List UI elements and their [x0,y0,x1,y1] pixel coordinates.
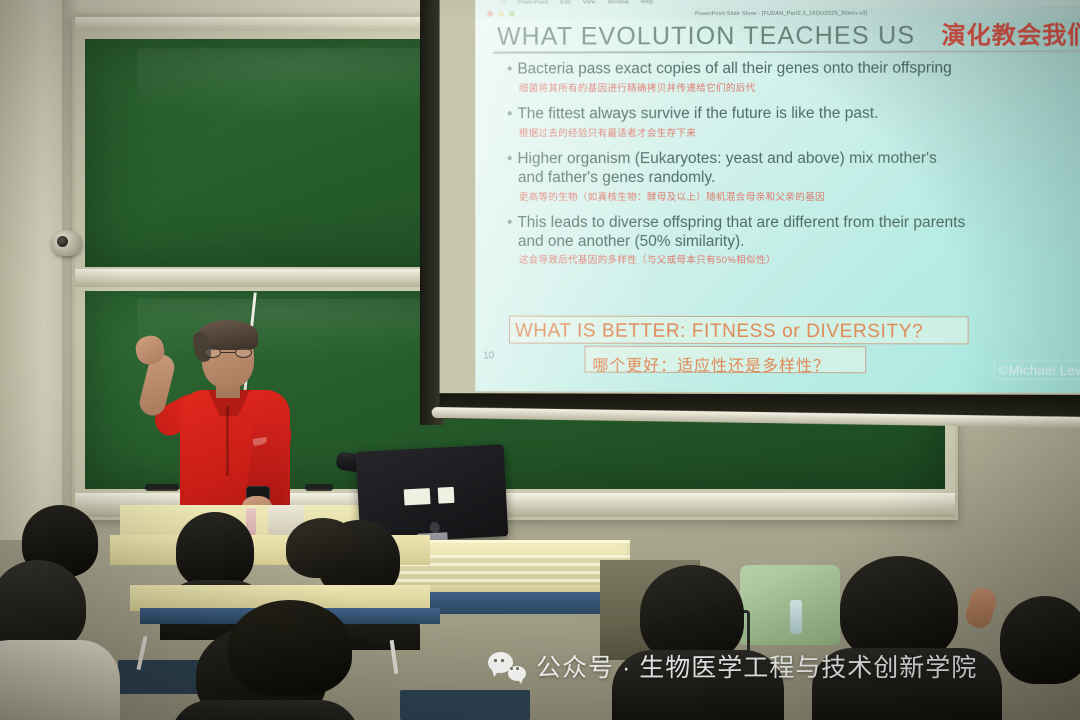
apple-logo-icon [429,522,440,534]
eyeglasses-icon [204,347,252,358]
student-head [1000,596,1080,684]
student-head [840,556,958,662]
menu-item-window[interactable]: Window [608,0,629,5]
bullet-dot-icon: • [507,150,512,167]
menu-item-help[interactable]: Help [641,0,653,5]
student-head [176,512,254,588]
menu-item-powerpoint[interactable]: PowerPoint [517,0,548,5]
bullet-dot-icon: • [507,214,512,231]
student-head [0,560,86,652]
slide-title-cn: 演化教会我们什 [941,15,1080,51]
bullet-text-cn: 这会导致后代基因的多样性（与父或母本只有50%相似性） [507,252,1080,266]
slide-header: WHAT EVOLUTION TEACHES US 演化教会我们什 [497,15,1080,52]
security-camera-icon [52,230,82,256]
projection-screen:  PowerPoint Edit View Window Help Power… [430,0,1080,439]
qr-sticker [438,487,455,504]
watermark-text: 公众号 · 生物医学工程与技术创新学院 [536,648,977,684]
bullet-text-en: •Bacteria pass exact copies of all their… [507,59,1080,79]
student-head [286,518,360,578]
channel-watermark: 公众号 · 生物医学工程与技术创新学院 [488,648,977,684]
bullet-text-cn: 根据过去的经验只有最适者才会生存下来 [507,124,1080,139]
close-button[interactable] [487,11,493,17]
highlight-text-en: WHAT IS BETTER: FITNESS or DIVERSITY? [515,321,923,344]
title-divider [493,50,1080,54]
bullet-item: •This leads to diverse offspring that ar… [507,214,1080,267]
bullet-text-cn: 细菌将其所有的基因进行精确拷贝并传递给它们的后代 [507,79,1080,94]
slide-title-en: WHAT EVOLUTION TEACHES US [497,22,915,52]
asset-sticker [404,488,431,505]
student-body-light [0,640,120,720]
wechat-icon [488,651,526,681]
student-head-front [228,600,352,696]
screenshot-root:  PowerPoint Edit View Window Help Power… [0,0,1080,720]
student-body [170,700,360,720]
bullet-text-en: •The fittest always survive if the futur… [507,104,1080,124]
bullet-dot-icon: • [507,61,512,78]
bullet-text-en: •This leads to diverse offspring that ar… [507,214,1080,252]
bullet-text-cn: 更高等的生物（如真核生物：酵母及以上）随机混合母亲和父亲的基因 [507,188,1080,202]
bullet-dot-icon: • [507,105,512,122]
copyright-notice: ©Michael Levin [994,361,1080,380]
highlight-text-cn: 哪个更好：适应性还是多样性？ [592,352,830,377]
apple-menu-icon[interactable]:  [501,0,505,5]
presenter-placket [226,406,229,476]
bullet-item: •Higher organism (Eukaryotes: yeast and … [507,149,1080,202]
desk-surface [400,690,530,720]
slide-bullet-list: •Bacteria pass exact copies of all their… [507,59,1080,278]
menu-item-view[interactable]: View [583,0,596,5]
menu-item-edit[interactable]: Edit [560,0,571,5]
slide-number: 10 [483,350,494,361]
water-bottle-blue [790,600,802,634]
powerpoint-slide[interactable]:  PowerPoint Edit View Window Help Power… [475,0,1080,393]
bullet-item: •Bacteria pass exact copies of all their… [507,59,1080,94]
bullet-text-en: •Higher organism (Eukaryotes: yeast and … [507,149,1080,187]
bullet-item: •The fittest always survive if the futur… [507,104,1080,139]
